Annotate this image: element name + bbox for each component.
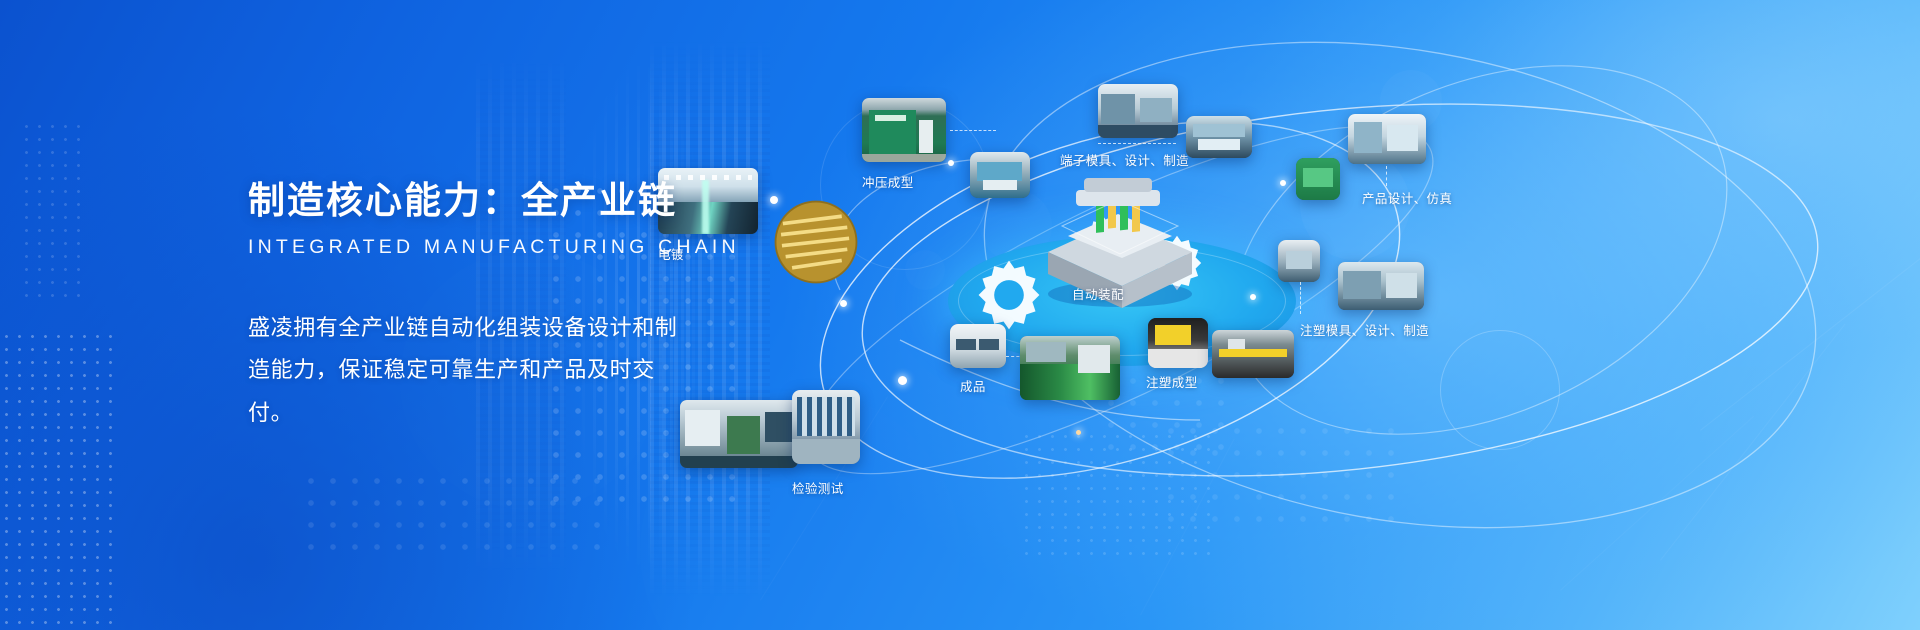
stamping-photo (862, 98, 946, 162)
dash-connector (950, 130, 996, 131)
caption-terminal-mold: 端子模具、设计、制造 (1060, 150, 1189, 169)
terminal-part-photo (1186, 116, 1252, 158)
connector-dot (898, 376, 907, 385)
orbit-paths (780, 0, 1920, 630)
caption-product-design: 产品设计、仿真 (1362, 188, 1452, 207)
center-process-label: 自动装配 (1072, 284, 1124, 303)
caption-injection-forming: 注塑成型 (1146, 372, 1198, 391)
dash-connector (1300, 282, 1301, 314)
page-title: 制造核心能力：全产业链 (248, 180, 718, 223)
mold-part-photo (1278, 240, 1320, 282)
banner-hero: 制造核心能力：全产业链 INTEGRATED MANUFACTURING CHA… (0, 0, 1920, 630)
caption-finished-product: 成品 (960, 376, 986, 395)
injection-forming-photo (1148, 318, 1208, 368)
manufacturing-chain-diagram: 自动装配 电镀 (780, 0, 1920, 630)
design-model-photo (1296, 158, 1340, 200)
test-fixture-photo (792, 390, 860, 464)
hero-description: 盛凌拥有全产业链自动化组装设备设计和制造能力，保证稳定可靠生产和产品及时交付。 (248, 307, 696, 436)
caption-injection-mold: 注塑模具、设计、制造 (1300, 320, 1429, 339)
connector-dot (1250, 294, 1256, 300)
connector-dot (1280, 180, 1286, 186)
product-design-photo (1348, 114, 1426, 164)
stamping-part-photo (970, 152, 1030, 198)
gold-coil-illustration (770, 196, 862, 288)
hero-copy: 制造核心能力：全产业链 INTEGRATED MANUFACTURING CHA… (248, 180, 718, 435)
caption-inspection-test: 检验测试 (792, 478, 844, 497)
injection-line-photo (1212, 330, 1294, 378)
assembly-line-photo (1020, 336, 1120, 400)
caption-stamping: 冲压成型 (862, 172, 914, 191)
connector-dot (840, 300, 847, 307)
finished-product-photo (950, 324, 1006, 368)
page-subtitle: INTEGRATED MANUFACTURING CHAIN (248, 236, 718, 259)
dash-connector (1098, 143, 1176, 144)
connector-dot (1076, 430, 1081, 435)
injection-mold-photo (1338, 262, 1424, 310)
connector-dot (948, 160, 954, 166)
terminal-mold-photo (1098, 84, 1178, 138)
dash-connector (1386, 166, 1387, 186)
